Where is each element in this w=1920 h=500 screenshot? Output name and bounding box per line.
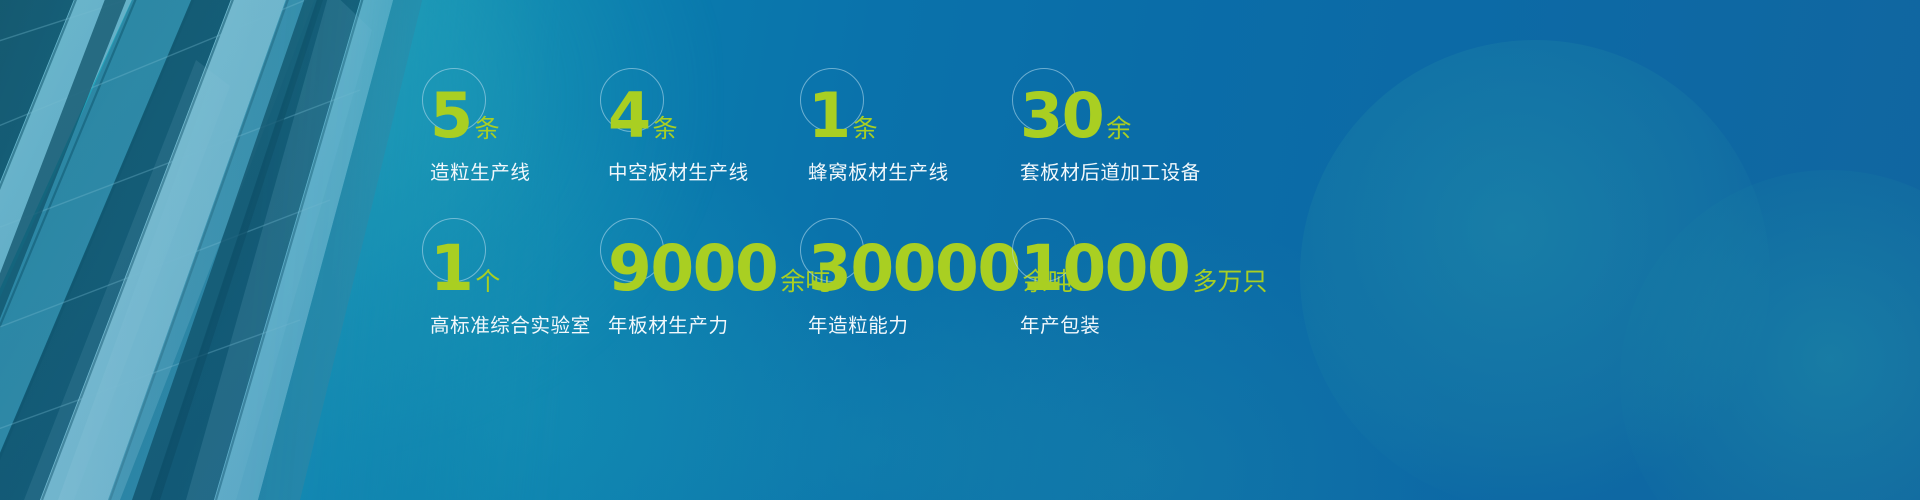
stat-label: 套板材后道加工设备 <box>1020 156 1260 185</box>
stat-number: 1000 <box>1020 238 1189 300</box>
stat-unit: 多万只 <box>1192 270 1267 295</box>
stat-label: 蜂窝板材生产线 <box>808 156 1020 185</box>
stat-unit: 条 <box>853 117 878 142</box>
stats-grid: 5 条 造粒生产线 4 条 中空板材生产线 1 条 蜂窝板材生产线 30 <box>430 62 1620 366</box>
stat-unit: 个 <box>475 270 500 295</box>
stat-unit: 条 <box>653 117 678 142</box>
stat-value: 30000 余吨 <box>808 214 1020 300</box>
stat-unit: 余 <box>1106 117 1131 142</box>
stat-label: 年板材生产力 <box>608 309 808 338</box>
stat-item: 30 余 套板材后道加工设备 <box>1020 62 1260 214</box>
stat-number: 30000 <box>808 238 1020 300</box>
stat-number: 30 <box>1020 86 1103 147</box>
stat-value: 9000 余吨 <box>608 214 808 300</box>
stat-value: 30 余 <box>1020 62 1260 147</box>
stat-number: 4 <box>608 86 650 147</box>
stat-item: 4 条 中空板材生产线 <box>608 62 808 214</box>
stat-value: 4 条 <box>608 62 808 147</box>
stat-unit: 条 <box>475 117 500 142</box>
stat-number: 9000 <box>608 238 777 300</box>
stat-number: 1 <box>430 238 472 300</box>
stat-number: 5 <box>430 86 472 147</box>
stat-item: 30000 余吨 年造粒能力 <box>808 214 1020 366</box>
stat-label: 年产包装 <box>1020 309 1260 338</box>
stat-label: 中空板材生产线 <box>608 156 808 185</box>
stat-value: 1000 多万只 <box>1020 214 1260 300</box>
stat-item: 1 条 蜂窝板材生产线 <box>808 62 1020 214</box>
stat-item: 1 个 高标准综合实验室 <box>430 214 608 366</box>
stat-label: 高标准综合实验室 <box>430 309 608 338</box>
stat-label: 造粒生产线 <box>430 156 608 185</box>
stats-banner: 5 条 造粒生产线 4 条 中空板材生产线 1 条 蜂窝板材生产线 30 <box>0 0 1920 500</box>
stat-item: 5 条 造粒生产线 <box>430 62 608 214</box>
stat-value: 1 条 <box>808 62 1020 147</box>
stat-value: 5 条 <box>430 62 608 147</box>
stat-item: 1000 多万只 年产包装 <box>1020 214 1260 366</box>
stat-number: 1 <box>808 86 850 147</box>
stat-item: 9000 余吨 年板材生产力 <box>608 214 808 366</box>
stat-label: 年造粒能力 <box>808 309 1020 338</box>
stat-value: 1 个 <box>430 214 608 300</box>
